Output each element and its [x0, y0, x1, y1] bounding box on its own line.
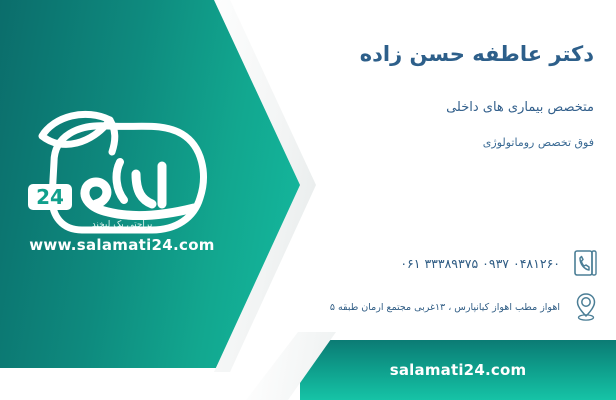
business-card: salamati24.com 24 براحتی یک لبخند www.sa… — [0, 0, 616, 400]
info-panel: دکتر عاطفه حسن زاده متخصص بیماری های داخ… — [300, 0, 616, 340]
address-row: اهواز مطب اهواز کیانپارس ، ۱۳غربی مجتمع … — [330, 290, 602, 324]
phone-row: ۰۴۸۱۲۶۰ ۰۹۳۷ ۳۳۳۸۹۳۷۵ ۰۶۱ — [400, 246, 602, 280]
footer-url[interactable]: salamati24.com — [300, 340, 616, 400]
wordmark-mim-icon — [136, 174, 152, 204]
salamati24-logo[interactable]: 24 براحتی یک لبخند www.salamati24.com — [12, 100, 232, 272]
handset-glyph — [580, 257, 589, 271]
apple-stem-icon — [110, 120, 115, 152]
wordmark-tail-icon — [117, 162, 124, 200]
book-outline — [575, 251, 592, 275]
phone-numbers[interactable]: ۰۴۸۱۲۶۰ ۰۹۳۷ ۳۳۳۸۹۳۷۵ ۰۶۱ — [400, 256, 560, 271]
badge-24-label: 24 — [36, 185, 64, 209]
doctor-name: دکتر عاطفه حسن زاده — [360, 42, 594, 66]
address-text[interactable]: اهواز مطب اهواز کیانپارس ، ۱۳غربی مجتمع … — [330, 302, 560, 313]
book-spine — [592, 251, 596, 275]
pin-hole — [582, 298, 590, 306]
logo-tagline: براحتی یک لبخند — [12, 220, 232, 230]
doctor-specialty: متخصص بیماری های داخلی — [446, 100, 594, 115]
map-pin-icon — [570, 290, 602, 324]
logo-artwork: 24 — [12, 100, 232, 240]
phonebook-icon — [570, 246, 602, 280]
doctor-subspecialty: فوق تخصص روماتولوژی — [483, 136, 594, 149]
logo-url[interactable]: www.salamati24.com — [12, 236, 232, 254]
